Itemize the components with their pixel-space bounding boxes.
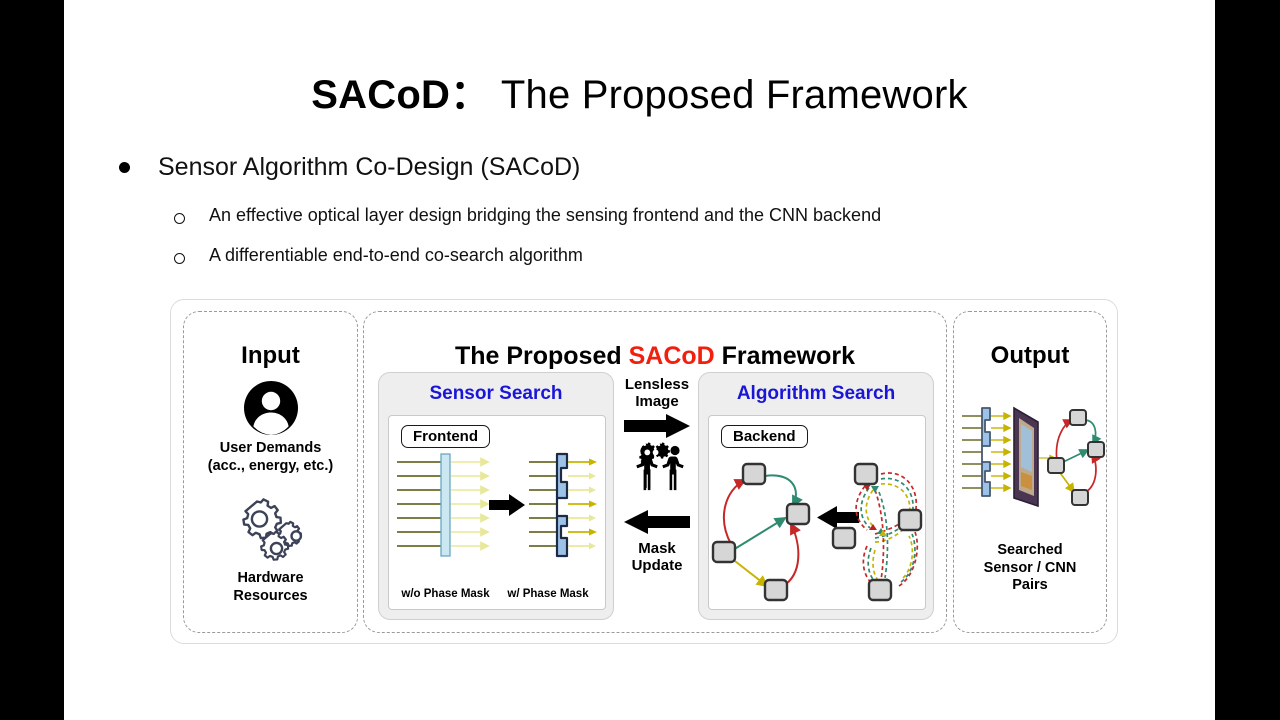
algorithm-search-box: Algorithm Search Backend [698, 372, 934, 620]
people-gears-icon [625, 442, 689, 500]
framework-panel-title: The Proposed SACoD Framework [364, 342, 946, 371]
bullet-level2-1-text: An effective optical layer design bridgi… [209, 205, 881, 227]
bullet-circle-icon [174, 213, 185, 224]
label-line: Mask [622, 540, 692, 557]
mask-update-label: Mask Update [622, 540, 692, 575]
sensor-search-box: Sensor Search Frontend [378, 372, 614, 620]
caption-line: Sensor / CNN [954, 560, 1106, 578]
framework-title-highlight: SACoD [629, 342, 715, 370]
bullet-circle-icon [174, 253, 185, 264]
algorithm-search-diagram: Backend [708, 415, 926, 610]
slide-viewer: SACoD： The Proposed Framework Sensor Alg… [0, 0, 1280, 720]
right-arrow-icon [489, 494, 525, 516]
right-arrow-icon [624, 414, 690, 438]
sensor-search-title: Sensor Search [379, 383, 613, 405]
output-panel-title: Output [954, 342, 1106, 370]
algorithm-search-title: Algorithm Search [699, 383, 933, 405]
user-avatar-icon [243, 380, 299, 436]
left-arrow-icon [817, 506, 859, 529]
framework-figure: Input User Demands (acc., energy, etc.) [170, 299, 1118, 644]
framework-panel: The Proposed SACoD Framework Sensor Sear… [363, 311, 947, 633]
lensless-image-label: Lensless Image [622, 376, 692, 411]
output-panel: Output [953, 311, 1107, 633]
output-caption: Searched Sensor / CNN Pairs [954, 542, 1106, 595]
page-title-emphasis: SACoD： [311, 73, 490, 117]
framework-title-suffix: Framework [715, 342, 855, 370]
frontend-tag: Frontend [401, 425, 490, 448]
framework-title-prefix: The Proposed [455, 342, 629, 370]
bullet-level1: Sensor Algorithm Co-Design (SACoD) [119, 153, 1159, 182]
caption-line: User Demands [184, 440, 357, 458]
bullet-dot-icon [119, 162, 130, 173]
letterbox-right [1215, 0, 1280, 720]
caption-line: Pairs [954, 577, 1106, 595]
page-title-rest: The Proposed Framework [490, 73, 967, 117]
bullet-level2-2-text: A differentiable end-to-end co-search al… [209, 245, 583, 267]
label-line: Update [622, 557, 692, 574]
input-hardware-caption: Hardware Resources [184, 570, 357, 605]
exchange-column: Lensless Image [622, 376, 692, 621]
caption-line: Resources [184, 588, 357, 606]
left-arrow-icon [624, 510, 690, 534]
input-user-demands-caption: User Demands (acc., energy, etc.) [184, 440, 357, 475]
bullet-level2-1: An effective optical layer design bridgi… [174, 205, 1174, 227]
bullet-level2-2: A differentiable end-to-end co-search al… [174, 245, 1174, 267]
backend-tag: Backend [721, 425, 808, 448]
caption-line: Searched [954, 542, 1106, 560]
input-panel: Input User Demands (acc., energy, etc.) [183, 311, 358, 633]
caption-line: Hardware [184, 570, 357, 588]
slide-canvas: SACoD： The Proposed Framework Sensor Alg… [64, 0, 1215, 720]
nas-graph-diagram [709, 446, 925, 606]
letterbox-left [0, 0, 64, 720]
sensor-search-diagram: Frontend [388, 415, 606, 610]
input-panel-title: Input [184, 342, 357, 370]
label-w-phase-mask: w/ Phase Mask [493, 588, 603, 600]
optical-ray-diagram [389, 450, 605, 570]
label-wo-phase-mask: w/o Phase Mask [393, 588, 498, 600]
page-title: SACoD： The Proposed Framework [64, 62, 1215, 120]
bullet-level1-text: Sensor Algorithm Co-Design (SACoD) [158, 153, 580, 182]
gears-icon [234, 495, 308, 561]
label-line: Image [622, 393, 692, 410]
caption-line: (acc., energy, etc.) [184, 458, 357, 476]
label-line: Lensless [622, 376, 692, 393]
sensor-cnn-pair-icon [960, 400, 1100, 520]
